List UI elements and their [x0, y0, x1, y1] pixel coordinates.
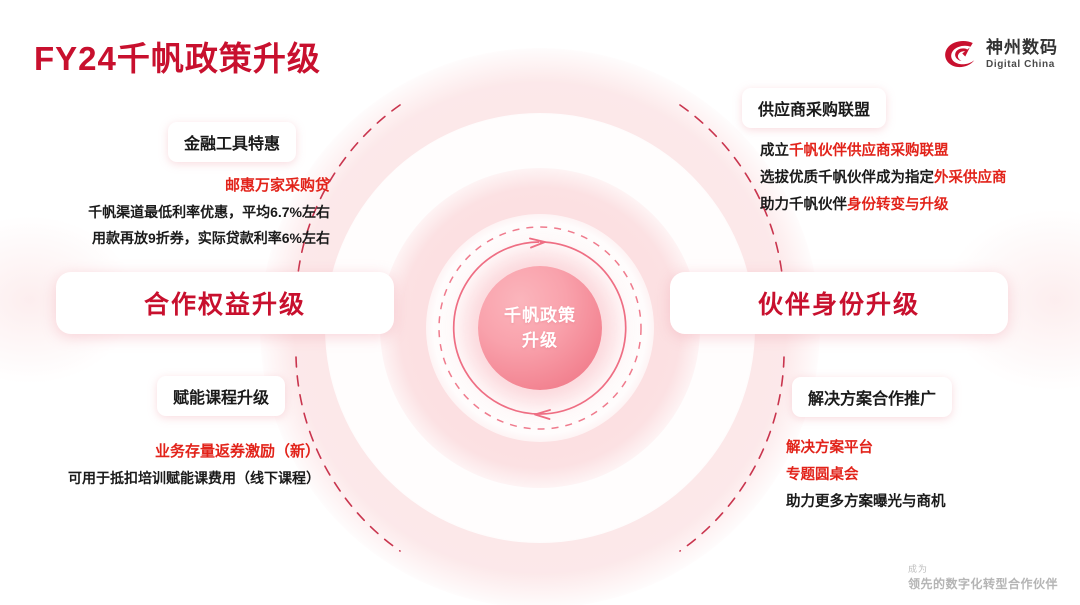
supplier-line-2-red: 外采供应商 — [934, 170, 1007, 186]
supplier-line-3-red: 身份转变与升级 — [847, 197, 949, 213]
chip-solution[interactable]: 解决方案合作推广 — [792, 377, 952, 417]
solution-headline-2: 专题圆桌会 — [786, 462, 1066, 489]
card-partner-identity[interactable]: 伙伴身份升级 — [670, 272, 1008, 334]
supplier-line-1: 成立千帆伙伴供应商采购联盟 — [760, 138, 1060, 165]
finance-line-1: 千帆渠道最低利率优惠，平均6.7%左右 — [0, 200, 330, 226]
card-partner-benefits[interactable]: 合作权益升级 — [56, 272, 394, 334]
brand-logo: 神州数码 Digital China — [942, 38, 1058, 72]
center-hub: 千帆政策 升级 — [478, 266, 602, 390]
brand-name-en: Digital China — [986, 60, 1058, 71]
text-block-education: 业务存量返券激励（新） 可用于抵扣培训赋能课费用（线下课程） — [0, 438, 320, 492]
text-block-supplier: 成立千帆伙伴供应商采购联盟 选拔优质千帆伙伴成为指定外采供应商 助力千帆伙伴身份… — [760, 138, 1060, 218]
text-block-finance: 邮惠万家采购贷 千帆渠道最低利率优惠，平均6.7%左右 用款再放9折券，实际贷款… — [0, 172, 330, 252]
slide-canvas: 千帆政策 升级 FY24千帆政策升级 神州数码 Digital China 金融… — [0, 0, 1080, 605]
finance-line-2: 用款再放9折券，实际贷款利率6%左右 — [0, 226, 330, 252]
swirl-logo-icon — [942, 38, 978, 72]
brand-name-cn: 神州数码 — [986, 39, 1058, 57]
footer-line-2: 领先的数字化转型合作伙伴 — [908, 576, 1058, 593]
education-line-1: 可用于抵扣培训赋能课费用（线下课程） — [0, 466, 320, 492]
education-headline: 业务存量返券激励（新） — [0, 438, 320, 466]
page-title: FY24千帆政策升级 — [34, 32, 321, 80]
center-hub-line1: 千帆政策 — [504, 303, 576, 329]
finance-headline: 邮惠万家采购贷 — [0, 172, 330, 200]
text-block-solution: 解决方案平台 专题圆桌会 助力更多方案曝光与商机 — [786, 435, 1066, 515]
center-hub-line2: 升级 — [522, 328, 558, 354]
chip-supplier[interactable]: 供应商采购联盟 — [742, 88, 886, 128]
supplier-line-2-black: 选拔优质千帆伙伴成为指定 — [760, 170, 934, 186]
solution-headline-1: 解决方案平台 — [786, 435, 1066, 462]
supplier-line-3: 助力千帆伙伴身份转变与升级 — [760, 192, 1060, 219]
chip-finance[interactable]: 金融工具特惠 — [168, 122, 296, 162]
solution-line-1: 助力更多方案曝光与商机 — [786, 489, 1066, 516]
chip-education[interactable]: 赋能课程升级 — [157, 376, 285, 416]
supplier-line-3-black: 助力千帆伙伴 — [760, 197, 847, 213]
supplier-line-2: 选拔优质千帆伙伴成为指定外采供应商 — [760, 165, 1060, 192]
footer-watermark: 成为 领先的数字化转型合作伙伴 — [908, 563, 1058, 593]
supplier-line-1-black: 成立 — [760, 143, 789, 159]
footer-line-1: 成为 — [908, 563, 1058, 577]
supplier-line-1-red: 千帆伙伴供应商采购联盟 — [789, 143, 949, 159]
